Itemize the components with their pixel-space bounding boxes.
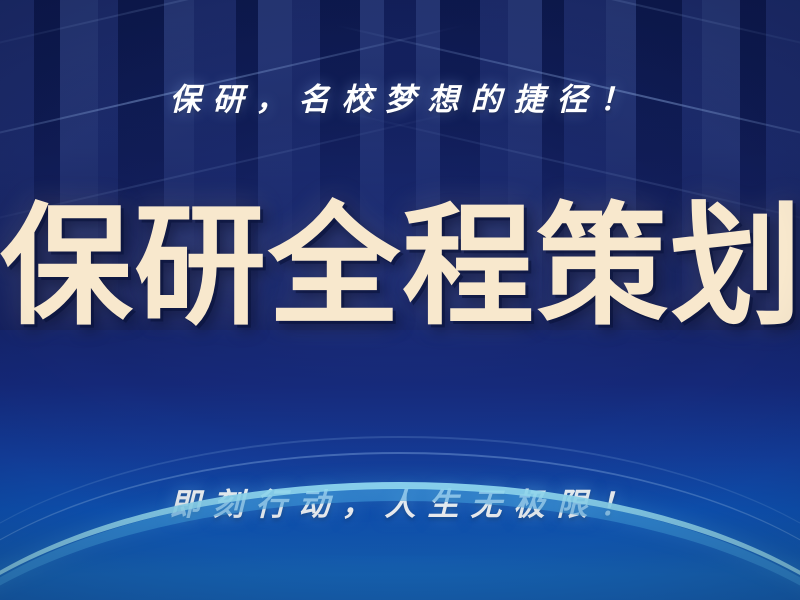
promo-banner: 保研，名校梦想的捷径！ 保研全程策划 即刻行动，人生无极限！	[0, 0, 800, 600]
vignette-overlay	[0, 0, 800, 600]
